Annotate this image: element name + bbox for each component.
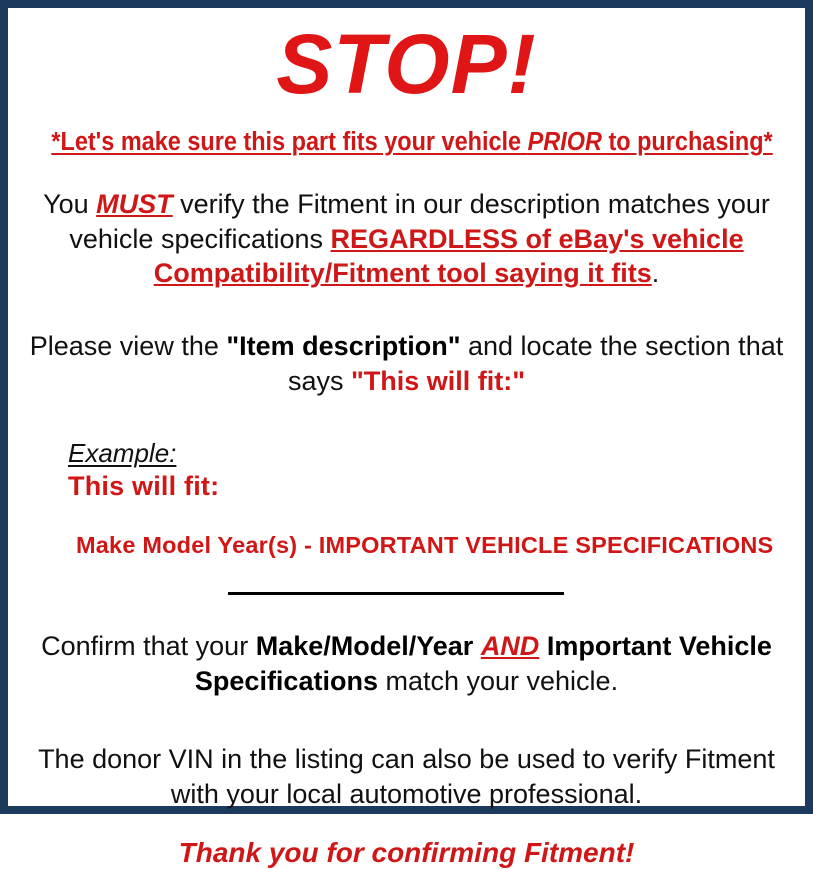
itemdesc-seg-1: Please view the (30, 331, 227, 361)
must-seg-3: . (652, 258, 660, 288)
banner-warning-line: *Let's make sure this part fits your veh… (20, 128, 793, 157)
example-spec-line: Make Model Year(s) - IMPORTANT VEHICLE S… (76, 532, 793, 559)
example-label: Example: (68, 438, 176, 469)
must-verify-paragraph: You MUST verify the Fitment in our descr… (20, 187, 793, 291)
thank-you-line: Thank you for confirming Fitment! (20, 837, 793, 869)
item-description-paragraph: Please view the "Item description" and l… (20, 329, 793, 398)
must-seg-1: You (43, 189, 96, 219)
divider-row (20, 585, 793, 595)
confirm-space-1 (473, 631, 481, 661)
page-title: STOP! (20, 22, 793, 106)
donor-vin-paragraph: The donor VIN in the listing can also be… (20, 742, 793, 811)
example-label-row: Example: (68, 438, 793, 469)
emphasis-item-description: "Item description" (226, 331, 460, 361)
confirm-space-2 (539, 631, 547, 661)
horizontal-divider (228, 592, 564, 595)
banner-warning-text: *Let's make sure this part fits your veh… (51, 128, 772, 157)
emphasis-and: AND (481, 631, 540, 661)
emphasis-this-will-fit: "This will fit:" (351, 366, 525, 396)
confirm-seg-2: match your vehicle. (378, 666, 618, 696)
banner-prefix: *Let's make sure this part fits your veh… (51, 128, 527, 156)
emphasis-must: MUST (96, 189, 173, 219)
banner-suffix: to purchasing* (602, 128, 773, 156)
banner-emphasis-prior: PRIOR (528, 128, 602, 156)
fitment-notice-card: STOP! *Let's make sure this part fits yo… (0, 0, 813, 814)
confirm-seg-1: Confirm that your (41, 631, 256, 661)
notice-inner: STOP! *Let's make sure this part fits yo… (8, 22, 805, 820)
example-this-will-fit: This will fit: (68, 471, 793, 502)
confirm-paragraph: Confirm that your Make/Model/Year AND Im… (20, 629, 793, 698)
example-block: Example: This will fit: Make Model Year(… (20, 438, 793, 559)
bold-make-model-year: Make/Model/Year (256, 631, 474, 661)
